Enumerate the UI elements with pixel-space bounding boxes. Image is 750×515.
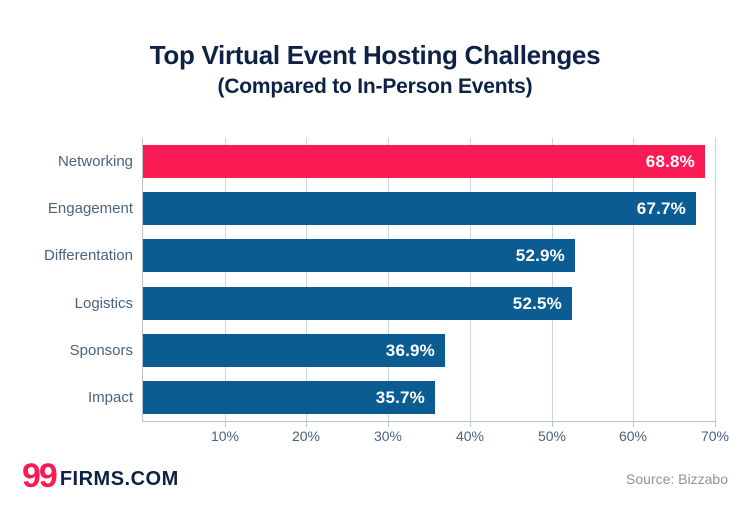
bar-row: 68.8%: [143, 145, 715, 178]
footer: 99 FIRMS.COM Source: Bizzabo: [0, 455, 750, 515]
bar[interactable]: 36.9%: [143, 334, 445, 367]
logo-99firms[interactable]: 99 FIRMS.COM: [22, 459, 179, 493]
plot-area: 68.8%67.7%52.9%52.5%36.9%35.7%: [143, 138, 715, 421]
bar-value-label: 36.9%: [386, 334, 435, 367]
bar-row: 36.9%: [143, 334, 715, 367]
source-note: Source: Bizzabo: [626, 471, 728, 487]
bar-series: 68.8%67.7%52.9%52.5%36.9%35.7%: [143, 138, 715, 421]
bar-row: 35.7%: [143, 381, 715, 414]
x-tick-label: 20%: [292, 428, 320, 444]
bar[interactable]: 35.7%: [143, 381, 435, 414]
gridline: [715, 138, 716, 421]
bar[interactable]: 52.5%: [143, 287, 572, 320]
title-block: Top Virtual Event Hosting Challenges (Co…: [0, 40, 750, 100]
x-axis-tick-labels: 10%20%30%40%50%60%70%: [143, 416, 715, 444]
bar-row: 67.7%: [143, 192, 715, 225]
bar[interactable]: 68.8%: [143, 145, 705, 178]
category-label-engagement: Engagement: [48, 192, 133, 225]
x-tick-label: 40%: [456, 428, 484, 444]
x-tick-label: 10%: [211, 428, 239, 444]
bar-row: 52.5%: [143, 287, 715, 320]
tick-mark: [715, 421, 716, 427]
bar-value-label: 35.7%: [376, 381, 425, 414]
bar-value-label: 67.7%: [637, 192, 686, 225]
bar[interactable]: 67.7%: [143, 192, 696, 225]
x-tick-label: 50%: [538, 428, 566, 444]
chart-title: Top Virtual Event Hosting Challenges: [0, 40, 750, 70]
x-tick-label: 70%: [701, 428, 729, 444]
bar-value-label: 52.9%: [516, 239, 565, 272]
bar[interactable]: 52.9%: [143, 239, 575, 272]
category-label-logistics: Logistics: [75, 287, 133, 320]
bar-value-label: 68.8%: [646, 145, 695, 178]
logo-wordmark: FIRMS.COM: [60, 469, 179, 489]
logo-mark: 99: [22, 459, 56, 493]
chart-subtitle: (Compared to In-Person Events): [0, 74, 750, 100]
bar-value-label: 52.5%: [513, 287, 562, 320]
category-label-sponsors: Sponsors: [70, 334, 133, 367]
category-label-differentation: Differentation: [44, 239, 133, 272]
category-label-impact: Impact: [88, 381, 133, 414]
x-tick-label: 60%: [619, 428, 647, 444]
category-label-networking: Networking: [58, 145, 133, 178]
bar-row: 52.9%: [143, 239, 715, 272]
y-axis-category-labels: NetworkingEngagementDifferentationLogist…: [0, 138, 133, 421]
x-tick-label: 30%: [374, 428, 402, 444]
